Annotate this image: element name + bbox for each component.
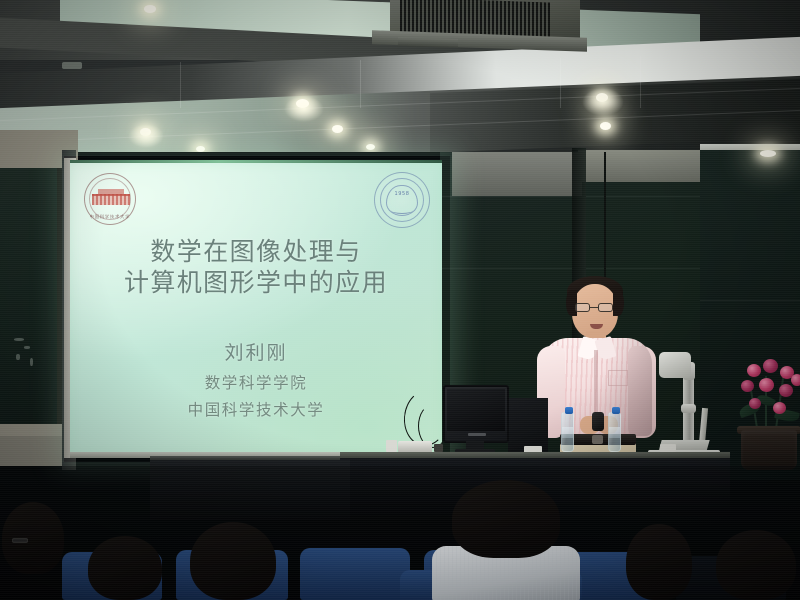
lecture-hall-photo: 中国科学技术大学 1958 数学在图像处理与 计算机图形学中的应用 刘利刚 数学…	[0, 0, 800, 600]
water-bottle[interactable]	[608, 412, 621, 452]
bottle-label	[609, 427, 620, 438]
presenter	[536, 276, 662, 476]
spotlight-flare	[582, 88, 624, 116]
ceiling-seam	[640, 56, 641, 108]
audience-head	[190, 522, 276, 600]
spotlight-flare	[128, 124, 164, 148]
orchid-bloom	[749, 398, 761, 409]
ceiling-fixture	[62, 62, 82, 69]
chalkboard	[0, 168, 62, 428]
power-plug	[434, 444, 443, 452]
slide-author: 刘利刚	[70, 338, 442, 365]
audience-head	[452, 480, 560, 558]
bottle-label	[562, 427, 573, 438]
presenter-shirt-pocket	[608, 370, 628, 386]
university-seal-blue-icon: 1958	[374, 172, 430, 228]
chalkboard-tray	[0, 424, 62, 436]
spotlight-flare	[284, 96, 324, 122]
cable-clip	[660, 444, 676, 452]
document-camera-joint	[681, 404, 696, 413]
orchid-bloom	[763, 359, 778, 373]
ceiling-spotlight	[366, 144, 375, 150]
ceiling-spotlight	[332, 125, 343, 133]
ceiling	[0, 0, 800, 152]
seal-left-caption: 中国科学技术大学	[85, 214, 135, 220]
ceiling-seam	[560, 58, 561, 108]
belt-buckle	[592, 435, 603, 444]
wall-seam	[700, 300, 800, 301]
auditorium-chair[interactable]	[300, 548, 410, 600]
presentation-clicker[interactable]	[592, 412, 604, 431]
ceiling-spotlight	[196, 146, 205, 152]
document-camera-head	[659, 352, 691, 378]
slide-title: 数学在图像处理与 计算机图形学中的应用	[70, 237, 442, 298]
wall-panel	[452, 152, 582, 196]
glasses-icon	[12, 538, 28, 543]
ceiling-spotlight	[600, 122, 611, 130]
orchid-bloom	[747, 364, 761, 377]
glasses-bridge	[590, 307, 598, 308]
wall-spotlight	[760, 150, 776, 157]
orchid-bloom	[759, 378, 774, 392]
audience-head	[626, 524, 692, 600]
university-seal-red-icon: 中国科学技术大学	[84, 173, 136, 225]
orchid-bloom	[773, 402, 786, 414]
audience-head	[716, 530, 796, 600]
wall-panel	[578, 150, 700, 182]
power-plug	[386, 440, 397, 452]
water-bottle[interactable]	[561, 412, 574, 452]
orchid-bloom	[741, 380, 754, 392]
ceiling-seam	[180, 62, 181, 108]
orchid-bloom	[779, 384, 793, 397]
glasses-icon	[598, 303, 613, 312]
orchid-bloom	[791, 374, 800, 386]
audience-head	[88, 536, 162, 600]
ceiling-seam	[360, 60, 361, 108]
left-wall-lower	[0, 436, 68, 466]
seal-year: 1958	[375, 191, 429, 197]
presenter-hair-side	[613, 290, 624, 316]
slide-title-line1: 数学在图像处理与	[70, 237, 442, 268]
bottle-cap	[565, 407, 573, 414]
monitor-screen	[447, 389, 505, 431]
glasses-icon	[575, 303, 590, 312]
ceiling-spotlight	[144, 5, 156, 13]
bottle-cap	[612, 407, 620, 414]
projection-screen[interactable]: 中国科学技术大学 1958 数学在图像处理与 计算机图形学中的应用 刘利刚 数学…	[70, 163, 442, 455]
slide-title-line2: 计算机图形学中的应用	[70, 268, 442, 299]
planter-basket	[741, 430, 797, 470]
monitor-brand-logo	[468, 433, 486, 436]
orchid-arrangement	[735, 358, 800, 470]
audience	[0, 466, 800, 600]
slide-department: 数学科学学院	[70, 371, 442, 393]
slide-university: 中国科学技术大学	[70, 398, 442, 420]
